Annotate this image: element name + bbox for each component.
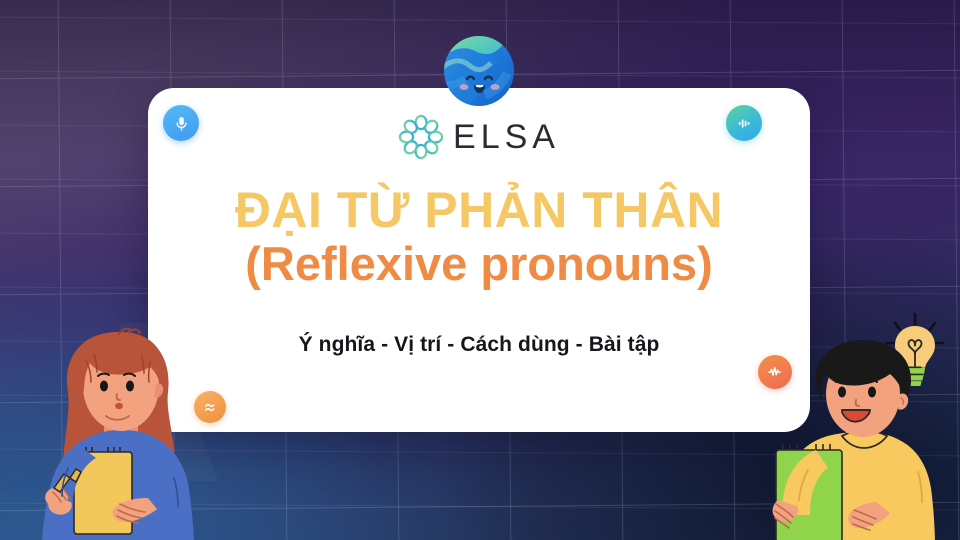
page-subtitle: Ý nghĩa - Vị trí - Cách dùng - Bài tập: [148, 333, 810, 357]
approx-badge[interactable]: [194, 391, 226, 423]
globe-mascot-icon: [441, 33, 517, 109]
boy-with-notepad-illustration: [768, 332, 960, 540]
elsa-flower-icon: [398, 114, 444, 160]
microphone-icon: [172, 114, 191, 133]
elsa-wordmark: ELSA: [453, 120, 560, 154]
sound-pulse-icon: [766, 363, 784, 381]
page-title-primary: ĐẠI TỪ PHẢN THÂN: [148, 184, 810, 236]
elsa-brand-logo: ELSA: [148, 114, 810, 160]
title-card: ELSA ĐẠI TỪ PHẢN THÂN (Reflexive pronoun…: [148, 88, 810, 432]
page-title-secondary: (Reflexive pronouns): [148, 240, 810, 289]
audio-wave-icon: [735, 114, 754, 133]
girl-with-notepad-illustration: [16, 318, 226, 540]
pulse-badge[interactable]: [758, 355, 792, 389]
microphone-badge[interactable]: [163, 105, 199, 141]
audio-wave-badge[interactable]: [726, 105, 762, 141]
approximately-equal-icon: [202, 399, 219, 416]
